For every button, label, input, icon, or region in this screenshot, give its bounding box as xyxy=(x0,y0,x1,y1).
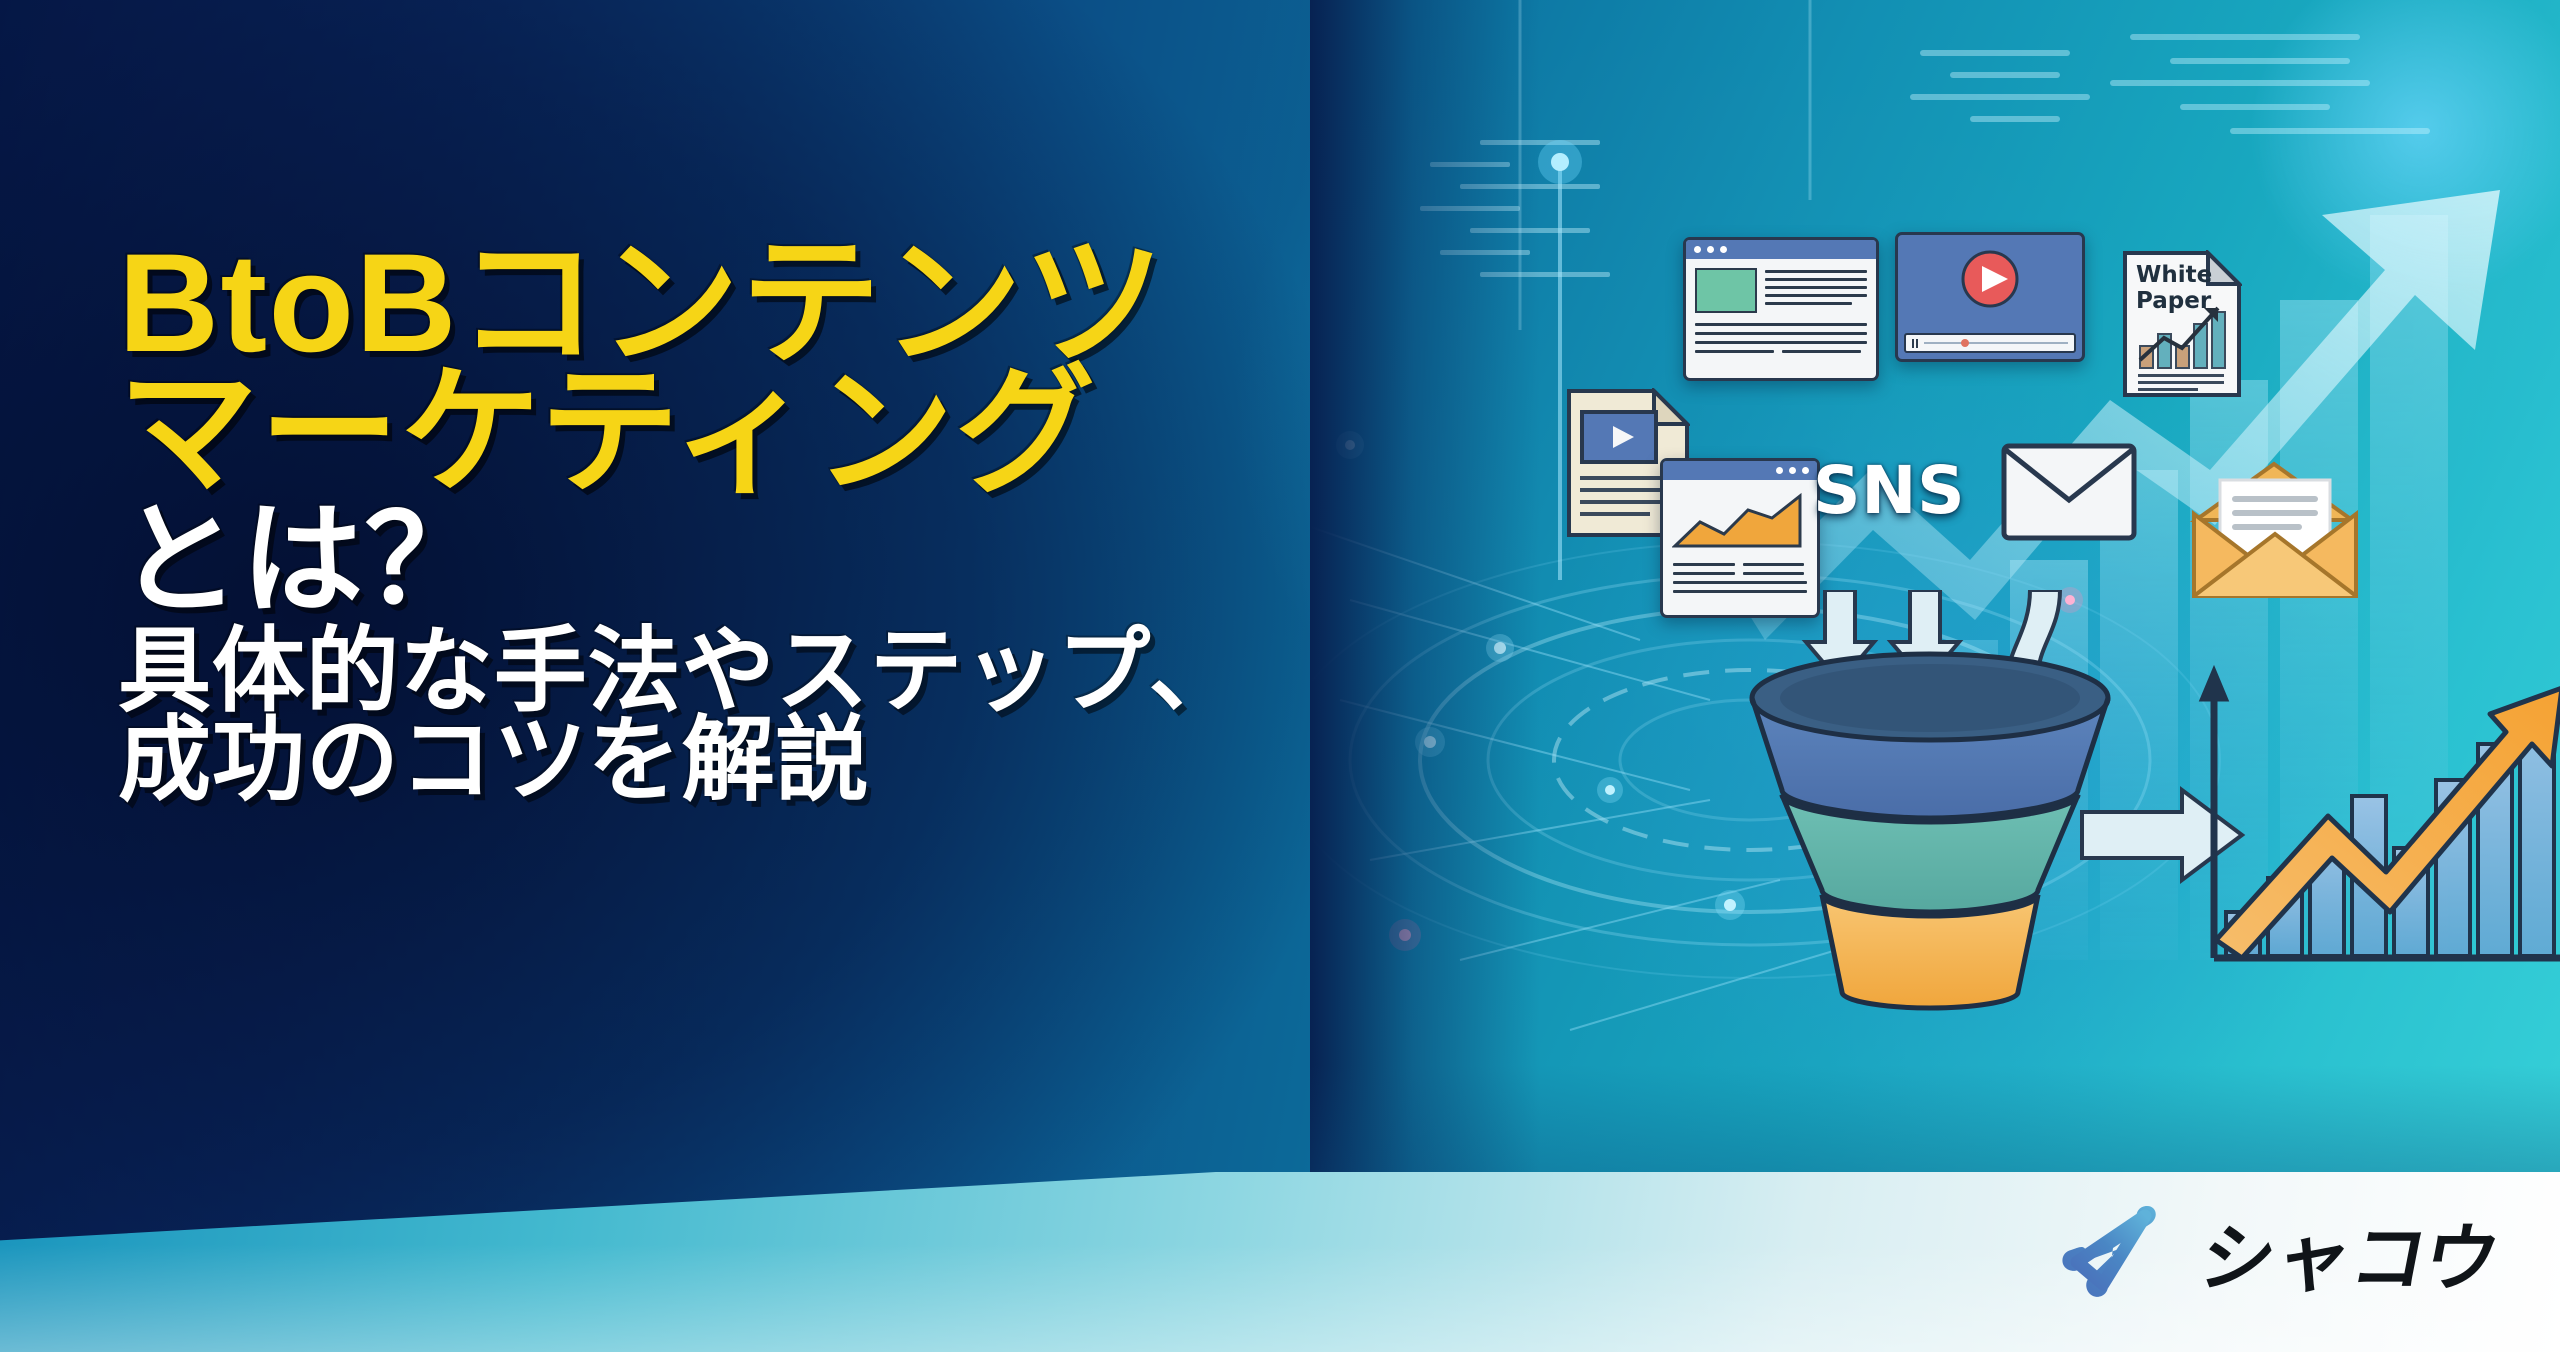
play-button-icon xyxy=(1895,232,2085,322)
whitepaper-document: White Paper xyxy=(2122,250,2238,394)
title-line-4: 具体的な手法やステップ、 xyxy=(118,624,1298,719)
open-envelope-icon xyxy=(2186,458,2366,608)
brand-logo: シャコウ xyxy=(2053,1204,2500,1314)
article-window-card xyxy=(1683,237,1879,381)
video-player-card xyxy=(1895,232,2085,362)
whitepaper-line2: Paper xyxy=(2136,290,2211,313)
area-chart-icon xyxy=(1672,488,1812,550)
thumbnail-canvas: White Paper xyxy=(0,0,2560,1352)
brand-name: シャコウ xyxy=(2194,1222,2507,1296)
title-line-3: とは？ xyxy=(118,498,1298,622)
title-block: BtoBコンテンツ マーケティング とは？ 具体的な手法やステップ、 成功のコツ… xyxy=(118,232,1298,808)
growth-bar-chart xyxy=(2190,640,2560,1000)
pause-icon xyxy=(1912,339,1918,348)
title-line-2: マーケティング xyxy=(118,361,1298,504)
closed-envelope-icon xyxy=(2000,440,2140,550)
conversion-funnel xyxy=(1730,590,2270,1020)
paper-plane-logo-mark xyxy=(2053,1204,2175,1314)
whitepaper-line1: White xyxy=(2136,264,2212,287)
title-line-5: 成功のコツを解説 xyxy=(118,713,1298,808)
sns-label: SNS xyxy=(1813,452,1965,529)
